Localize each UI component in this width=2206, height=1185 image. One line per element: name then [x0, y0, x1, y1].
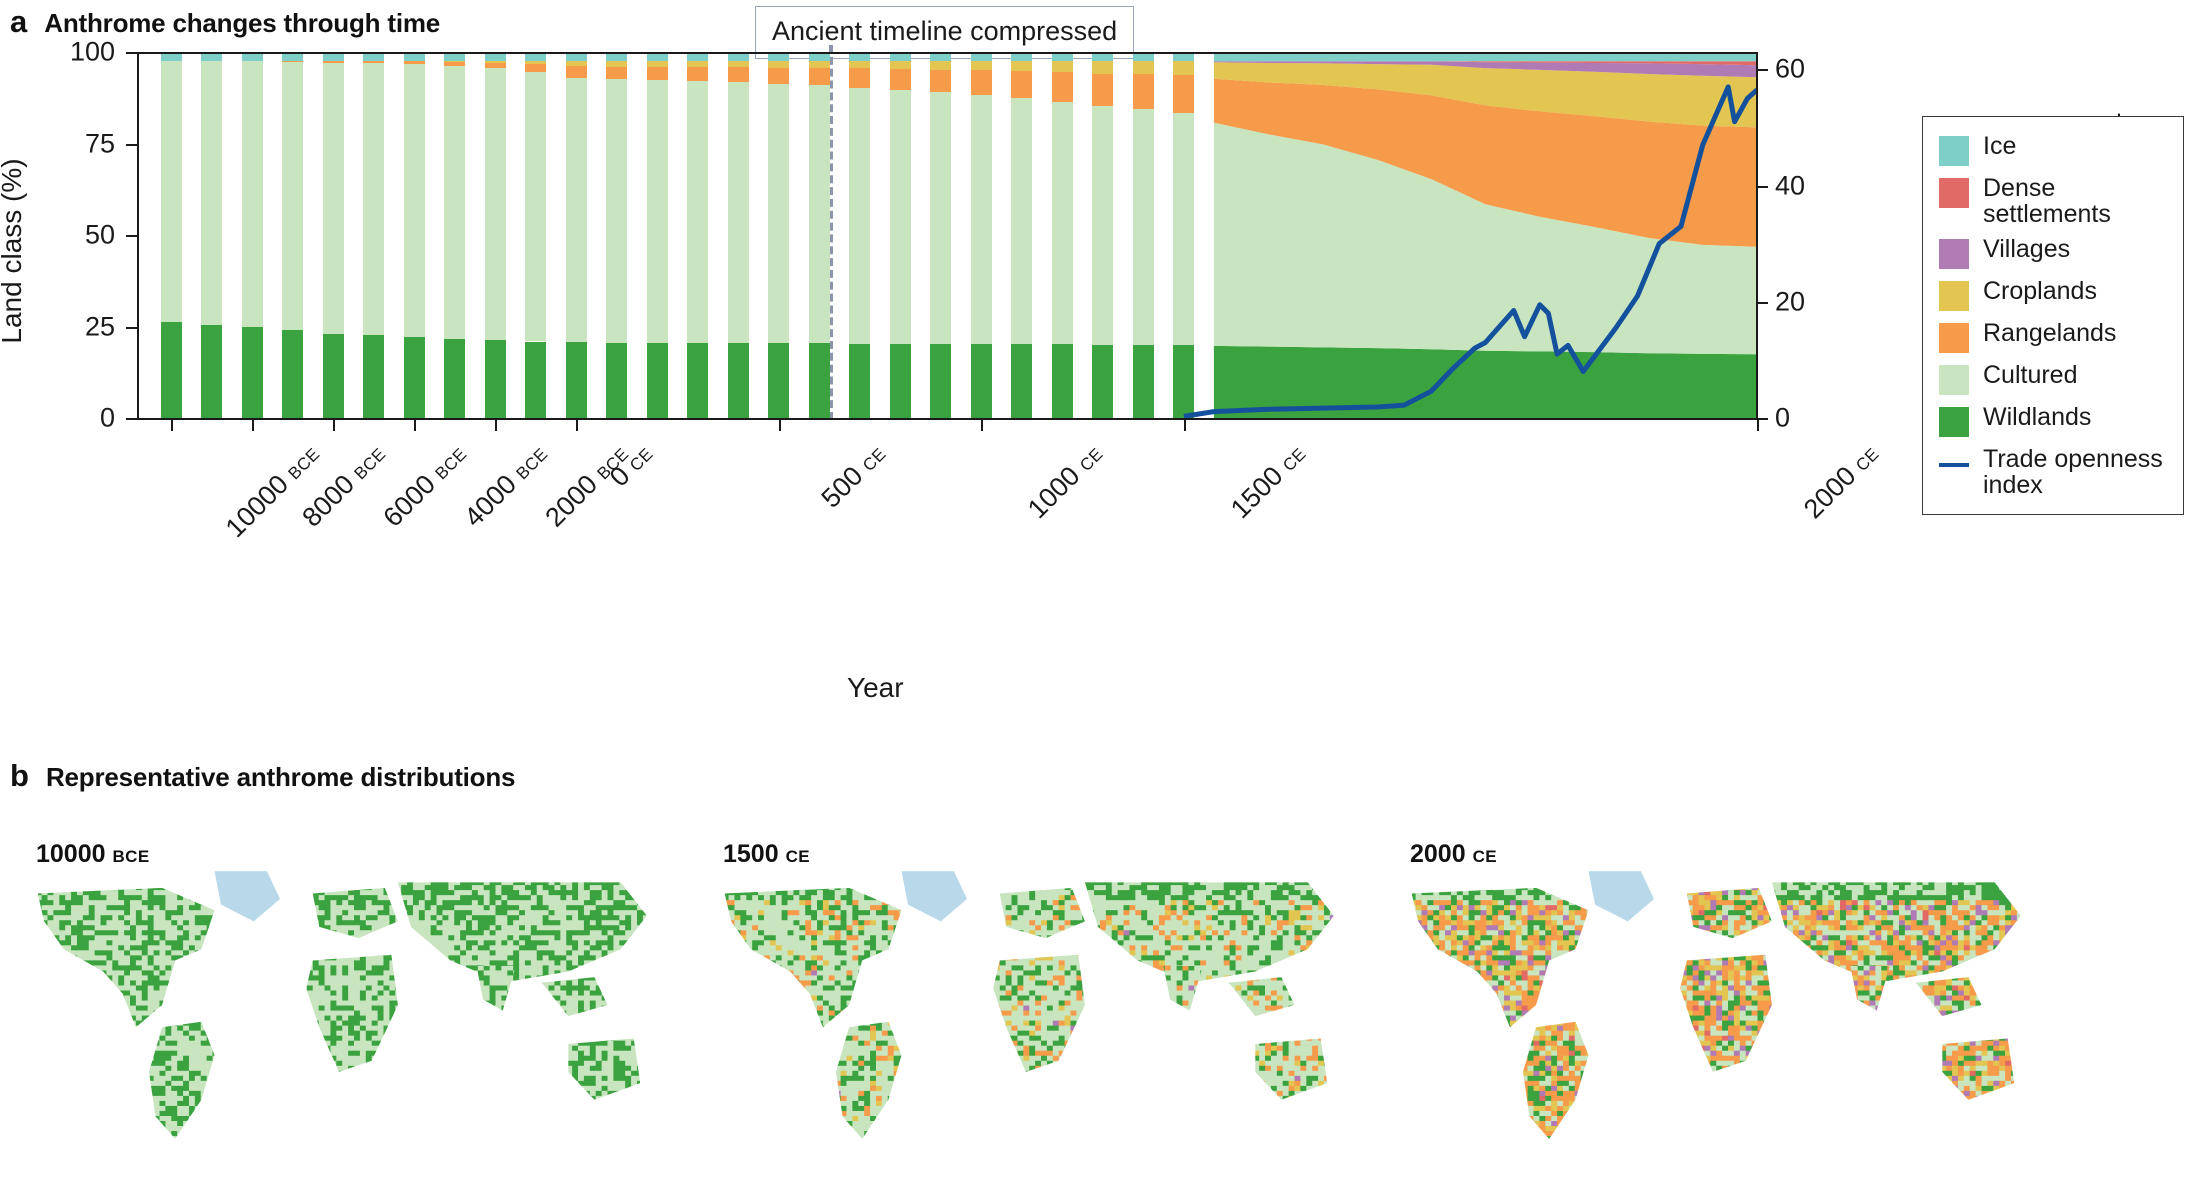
legend-item-cultured[interactable]: Cultured [1939, 362, 2169, 395]
y-tick-label: 25 [25, 311, 115, 342]
y-tick [126, 235, 137, 237]
legend-item-ice[interactable]: Ice [1939, 133, 2169, 166]
y2-tick-label: 60 [1775, 54, 1865, 85]
x-tick [576, 419, 578, 431]
panel-a-anthrome-changes: a Anthrome changes through time Ancient … [0, 0, 2206, 740]
legend-item-croplands[interactable]: Croplands [1939, 278, 2169, 311]
axis-top [137, 52, 1758, 54]
x-tick-label: 10000 BCE [220, 438, 326, 544]
legend-label: Trade openness index [1983, 446, 2169, 498]
modern-stacked-area [137, 52, 1757, 418]
map-canvas [705, 860, 1360, 1150]
legend-item-villages[interactable]: Villages [1939, 236, 2169, 269]
x-tick [171, 419, 173, 431]
x-tick-label: 500 CE [815, 438, 891, 514]
y2-tick [1757, 302, 1768, 304]
chart-legend: IceDense settlementsVillagesCroplandsRan… [1922, 116, 2184, 515]
y-tick [126, 418, 137, 420]
axis-right [1756, 52, 1758, 420]
legend-line-icon [1939, 449, 1969, 479]
y-tick [126, 327, 137, 329]
x-tick [252, 419, 254, 431]
panel-a-heading: a Anthrome changes through time [10, 6, 440, 37]
legend-item-dense-settlements[interactable]: Dense settlements [1939, 175, 2169, 227]
legend-label: Croplands [1983, 278, 2097, 304]
legend-item-wildlands[interactable]: Wildlands [1939, 404, 2169, 437]
y-tick-label: 0 [25, 403, 115, 434]
y2-tick-label: 40 [1775, 170, 1865, 201]
x-tick [779, 419, 781, 431]
panel-b-letter: b [10, 760, 29, 791]
y-tick [126, 144, 137, 146]
legend-label: Rangelands [1983, 320, 2116, 346]
y-tick-label: 75 [25, 128, 115, 159]
panel-b-heading: b Representative anthrome distributions [10, 760, 515, 791]
legend-label: Dense settlements [1983, 175, 2169, 227]
x-tick-label: 6000 BCE [378, 438, 473, 533]
y-axis-title: Land class (%) [0, 71, 28, 431]
x-axis-title: Year [847, 672, 904, 704]
y2-tick-label: 20 [1775, 286, 1865, 317]
y2-tick-label: 0 [1775, 403, 1865, 434]
y-tick [126, 52, 137, 54]
world-map-2000 [1392, 860, 2047, 1150]
legend-item-rangelands[interactable]: Rangelands [1939, 320, 2169, 353]
legend-swatch-icon [1939, 281, 1969, 311]
y-tick-label: 100 [25, 37, 115, 68]
y-tick-label: 50 [25, 220, 115, 251]
x-tick [981, 419, 983, 431]
world-map-10000 [18, 860, 673, 1150]
axis-bottom [137, 418, 1758, 420]
legend-swatch-icon [1939, 407, 1969, 437]
world-map-1500 [705, 860, 1360, 1150]
map-canvas [18, 860, 673, 1150]
x-tick [333, 419, 335, 431]
x-tick-label: 2000 CE [1798, 438, 1885, 525]
x-tick-label: 1500 CE [1225, 438, 1312, 525]
legend-label: Villages [1983, 236, 2070, 262]
y2-tick [1757, 186, 1768, 188]
legend-swatch-icon [1939, 178, 1969, 208]
chart-plot-area [137, 52, 1757, 418]
chart-series-container [137, 52, 1757, 418]
legend-swatch-icon [1939, 323, 1969, 353]
panel-b-anthrome-distributions: b Representative anthrome distributions … [0, 740, 2206, 1185]
legend-label: Wildlands [1983, 404, 2091, 430]
x-tick [414, 419, 416, 431]
panel-a-letter: a [10, 6, 27, 37]
panel-a-title: Anthrome changes through time [44, 10, 440, 36]
y2-tick [1757, 69, 1768, 71]
x-tick-label: 4000 BCE [459, 438, 554, 533]
legend-label: Ice [1983, 133, 2016, 159]
axis-left [137, 52, 139, 420]
legend-label: Cultured [1983, 362, 2078, 388]
x-tick [1757, 419, 1759, 431]
x-tick [1184, 419, 1186, 431]
legend-swatch-icon [1939, 365, 1969, 395]
x-tick-label: 1000 CE [1022, 438, 1109, 525]
x-tick [495, 419, 497, 431]
legend-item-trade-openness-index[interactable]: Trade openness index [1939, 446, 2169, 498]
map-canvas [1392, 860, 2047, 1150]
panel-b-title: Representative anthrome distributions [46, 764, 515, 790]
legend-swatch-icon [1939, 136, 1969, 166]
legend-swatch-icon [1939, 239, 1969, 269]
